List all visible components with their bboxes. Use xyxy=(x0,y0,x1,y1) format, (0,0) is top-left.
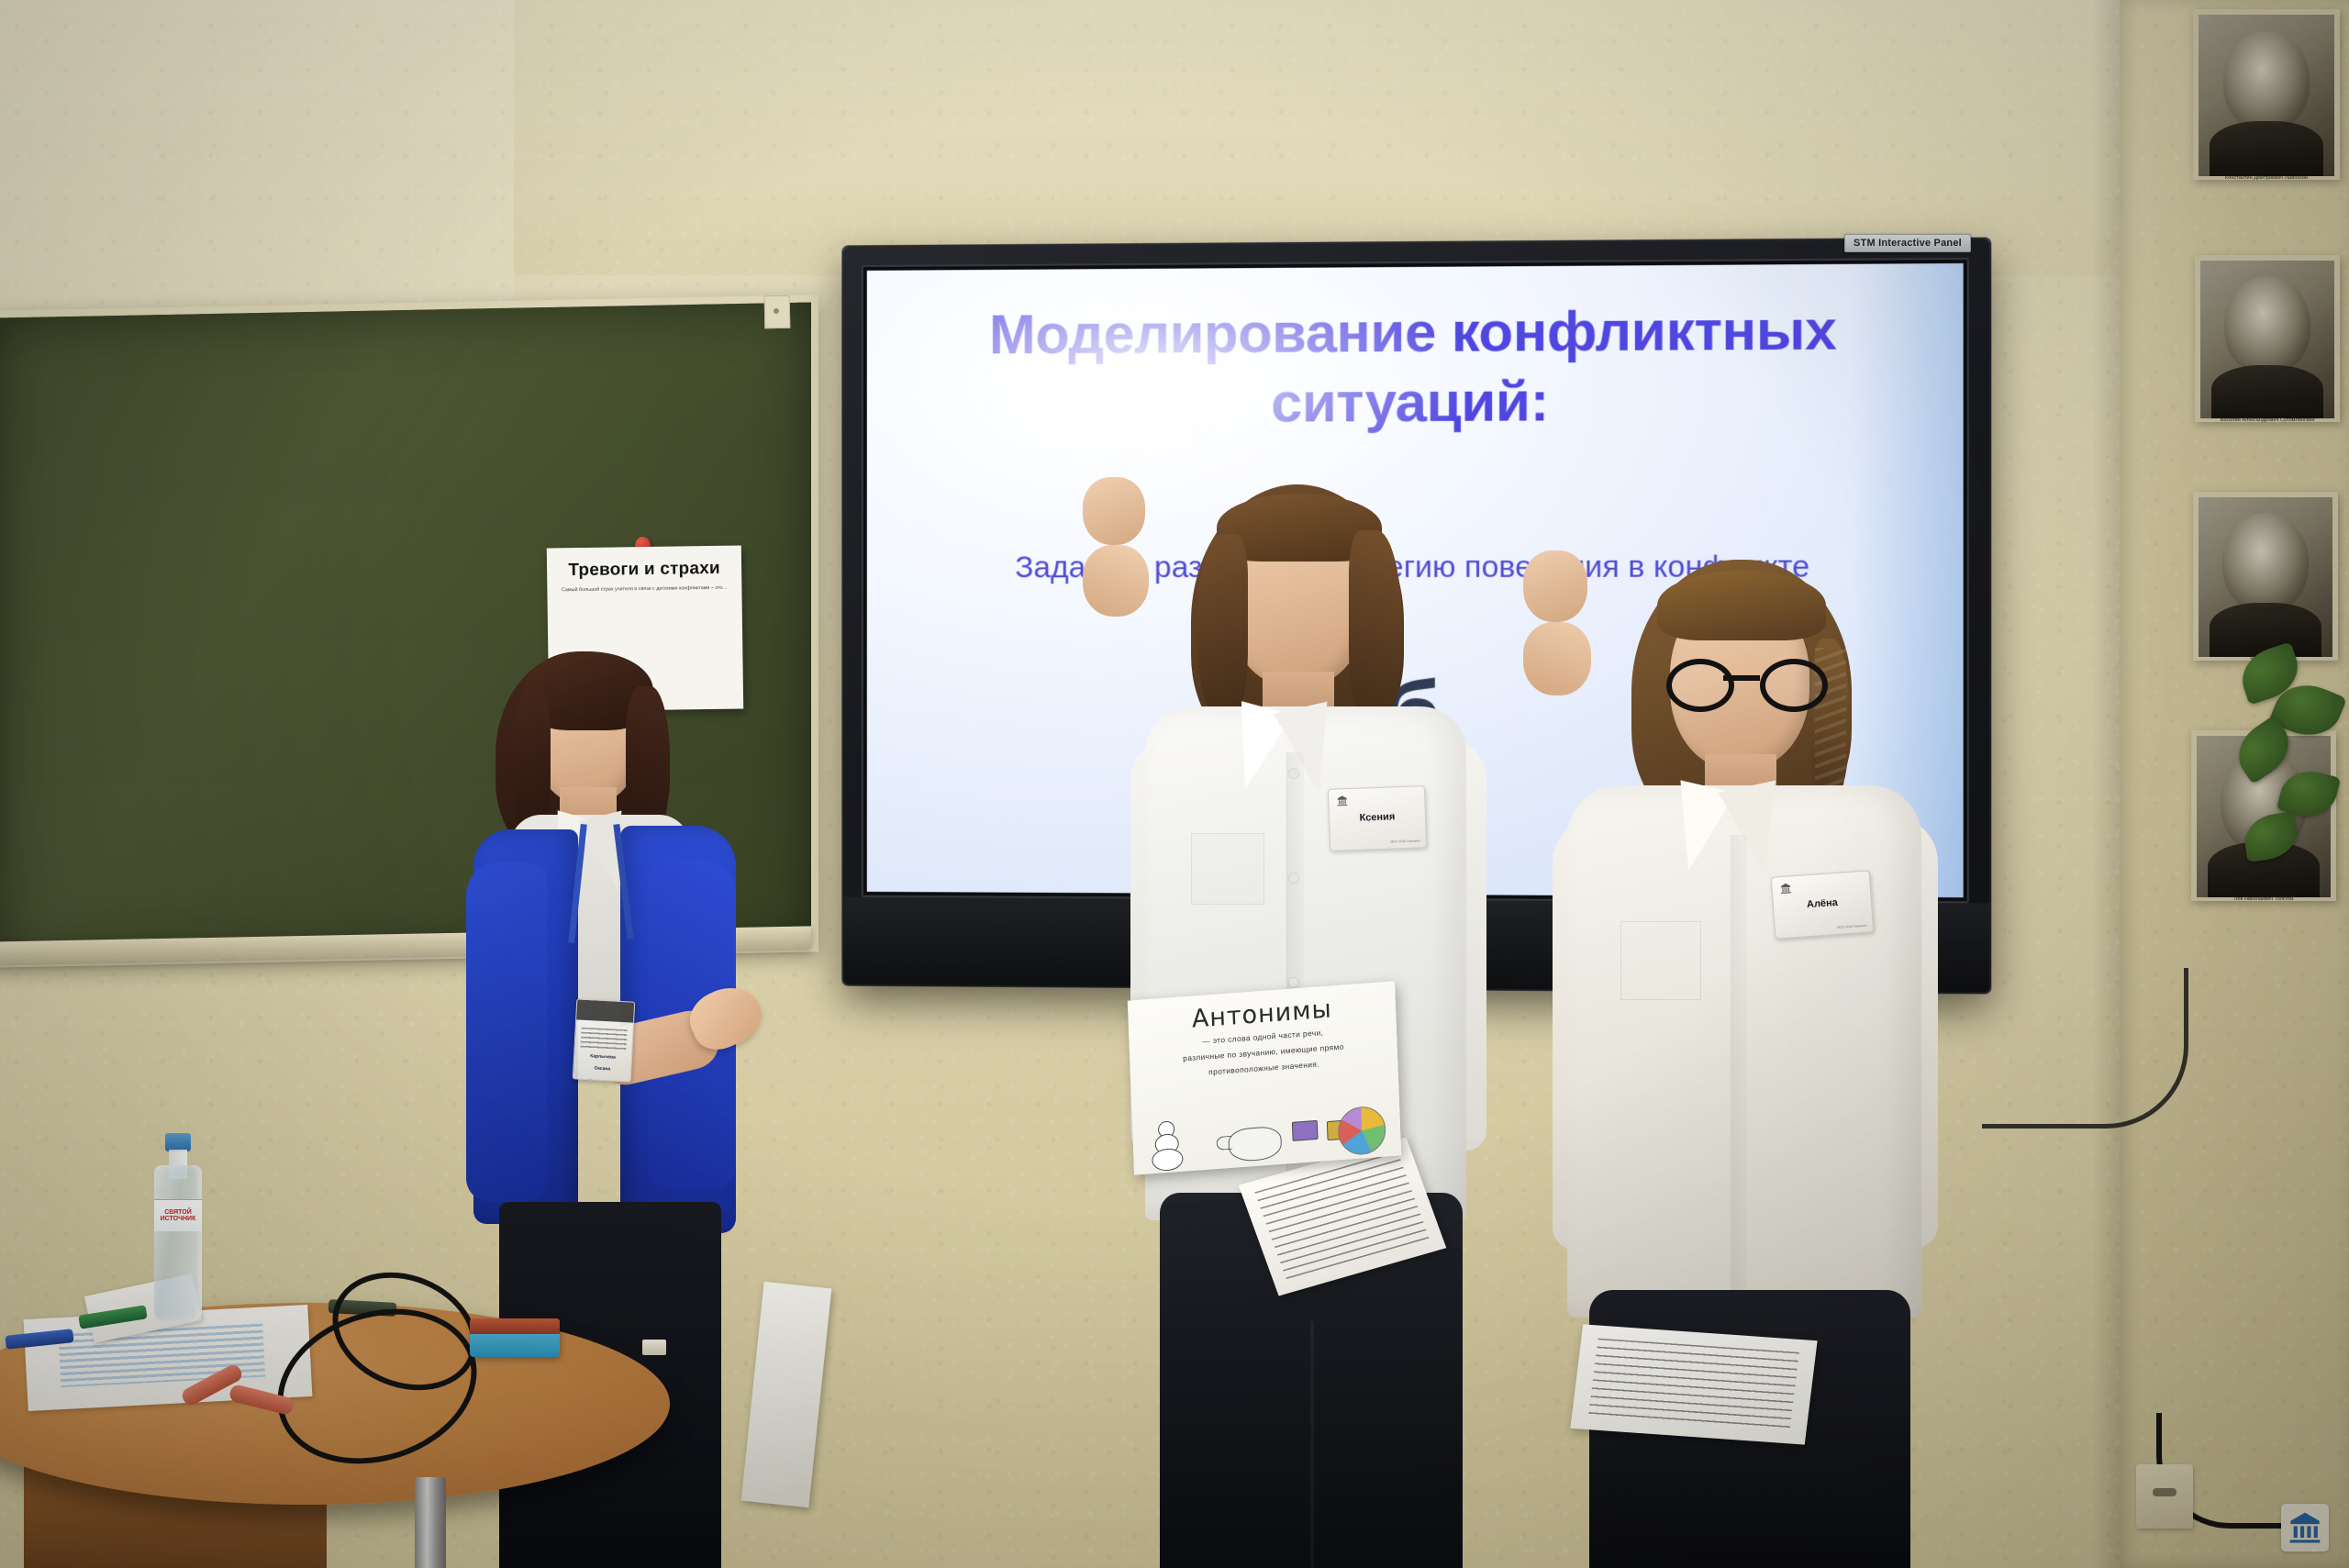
student1-name-badge: Ксения МОУ СОШ Гимназия xyxy=(1328,785,1427,851)
watermark-logo xyxy=(2281,1504,2329,1551)
tin-box-lid xyxy=(470,1318,560,1334)
student1-badge-name: Ксения xyxy=(1330,810,1425,825)
shirt-button-icon xyxy=(1289,873,1298,883)
panel-cable xyxy=(1982,968,2188,1129)
student2-hand-left xyxy=(1523,550,1587,622)
student2-name-badge: Алёна МОУ СОШ Гимназия xyxy=(1771,870,1874,939)
anxiety-poster-title: Тревоги и страхи xyxy=(554,559,734,582)
snowman-drawing-icon xyxy=(1149,1119,1189,1170)
bottle-label: СВЯТОЙ ИСТОЧНИК xyxy=(154,1199,202,1231)
portrait-image xyxy=(2199,15,2334,176)
badge-detail-lines xyxy=(581,1028,628,1051)
portrait-image xyxy=(2199,497,2332,657)
student1-badge-footer: МОУ СОШ Гимназия xyxy=(1390,839,1420,844)
wall-socket xyxy=(2136,1464,2193,1529)
slide-title: Моделирование конфликтных ситуаций: xyxy=(931,295,1896,439)
lens-left-icon xyxy=(1666,659,1734,712)
antonyms-poster: Антонимы — это слова одной части речи, р… xyxy=(1128,981,1402,1174)
student2-hand-right xyxy=(1523,622,1591,695)
blackboard-bracket xyxy=(764,295,791,328)
student2-braid xyxy=(1811,639,1850,806)
institution-building-icon xyxy=(2287,1509,2323,1546)
teacher-id-badge: Карпычева Оксана Николаевна xyxy=(573,998,636,1082)
student1-hair-left xyxy=(1197,534,1248,727)
school-crest-icon xyxy=(1336,795,1348,806)
student2-shirt-pocket xyxy=(1620,921,1701,1000)
bottle-brand-text: СВЯТОЙ ИСТОЧНИК xyxy=(154,1209,202,1222)
eyeglasses-icon xyxy=(1666,659,1817,701)
badge-name-line-3: Николаевна xyxy=(573,1077,629,1083)
colour-wheel-icon xyxy=(1337,1105,1386,1156)
student2-badge-name: Алёна xyxy=(1774,895,1872,912)
student2-badge-footer: МОУ СОШ Гимназия xyxy=(1837,924,1867,930)
school-crest-icon xyxy=(1779,882,1792,895)
glasses-bridge-icon xyxy=(1723,675,1760,681)
table-leg xyxy=(415,1477,446,1568)
leaf-icon xyxy=(2242,811,2300,862)
badge-name-line-1: Карпычева xyxy=(574,1052,631,1062)
handout-text-lines xyxy=(1588,1339,1799,1431)
water-bottle: СВЯТОЙ ИСТОЧНИК xyxy=(154,1133,202,1321)
classroom-scene: Тревоги и страхи Самый большой страх учи… xyxy=(0,0,2349,1568)
tin-box xyxy=(470,1318,560,1357)
portrait-ushinsky: Константин Дмитриевич Ушинский xyxy=(2193,9,2340,180)
shirt-button-icon xyxy=(1289,978,1298,987)
portrait-image xyxy=(2200,261,2334,418)
lens-right-icon xyxy=(1760,659,1828,712)
student1-trouser-seam xyxy=(1310,1321,1314,1568)
teacher-sleeve-left xyxy=(466,862,547,1202)
wall-left-highlight xyxy=(0,0,514,312)
student2-hair-top xyxy=(1657,571,1826,640)
portrait-caption: Константин Дмитриевич Ушинский xyxy=(2193,175,2340,182)
mini-card-icon xyxy=(1292,1120,1319,1141)
anxiety-poster-subtitle: Самый большой страх учителя в связи с де… xyxy=(554,585,734,595)
chalk-eraser xyxy=(642,1340,666,1355)
bottle-body xyxy=(154,1165,202,1321)
student2-handout-sheet xyxy=(1570,1324,1817,1444)
portrait-sukhomlinsky: Василий Александрович Сухомлинский xyxy=(2195,255,2340,422)
badge-name-line-2: Оксана xyxy=(573,1065,630,1074)
badge-header-bar xyxy=(576,999,634,1022)
student1-hand-left xyxy=(1083,477,1145,545)
student1-hand-right xyxy=(1083,545,1149,617)
portrait-caption: Василий Александрович Сухомлинский xyxy=(2195,417,2340,424)
student1-shirt-pocket xyxy=(1191,833,1264,905)
teapot-drawing-icon xyxy=(1228,1126,1282,1162)
student2-shirt-placket xyxy=(1731,835,1747,1312)
bottle-cap-icon xyxy=(165,1133,191,1151)
shirt-button-icon xyxy=(1289,769,1298,778)
potted-plant xyxy=(2232,642,2349,945)
portrait-korczak: Януш Корчак xyxy=(2193,492,2338,661)
panel-brand-label: STM Interactive Panel xyxy=(1844,234,1971,252)
